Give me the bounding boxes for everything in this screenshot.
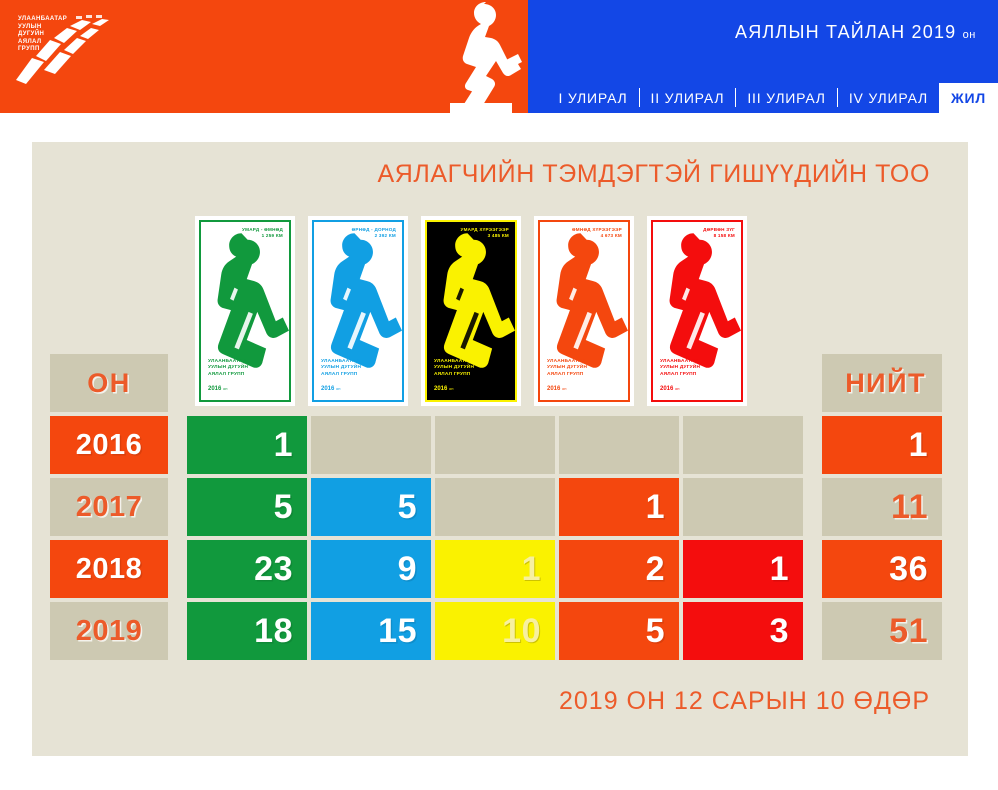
members-table: ОН НИЙТ 2016 1 — [50, 354, 942, 664]
table-gap — [807, 478, 818, 536]
report-date: 2019 ОН 12 САРЫН 10 ӨДӨР — [559, 687, 930, 716]
cell-omnod-hureegeer: 5 — [559, 602, 679, 660]
badge-year-suffix: он — [449, 386, 453, 391]
badge-head-label: УМАРД ХҮРЭЭГЭЭР 3 485 КМ — [461, 227, 510, 239]
logo-text: УЛААНБААТАР УУЛЫН ДУГУЙН АЯЛАЛ ГРУПП — [18, 16, 67, 54]
badge-org-label: УЛААНБААТАР УУЛЫН ДУГУЙН АЯЛАЛ ГРУПП — [660, 359, 700, 378]
cell-value: 5 — [274, 488, 293, 527]
cell-value: 2 — [646, 550, 665, 589]
badge-head-label: ДӨРВӨН ЗҮГ 8 158 КМ — [703, 227, 735, 239]
badge-org-label: УЛААНБААТАР УУЛЫН ДУГУЙН АЯЛАЛ ГРУПП — [547, 359, 587, 378]
app-header: УЛААНБААТАР УУЛЫН ДУГУЙН АЯЛАЛ ГРУПП АЯЛ… — [0, 0, 998, 113]
table-gap — [807, 602, 818, 660]
row-year-label: 2017 — [76, 491, 143, 524]
cell-umard-omnod: 5 — [187, 478, 307, 536]
cell-umard-hureegeer — [435, 416, 555, 474]
tab-quarter-2[interactable]: II УЛИРАЛ — [640, 83, 736, 113]
badge-card-row: УМАРД - ӨМНӨД 1 259 КМ УЛААНБААТАР УУЛЫН… — [195, 216, 747, 406]
cell-value: 1 — [274, 426, 293, 465]
cell-dorvon-zug — [683, 416, 803, 474]
cell-umard-omnod: 23 — [187, 540, 307, 598]
badge-card-omnod-hureegeer[interactable]: ӨМНӨД ХҮРЭЭГЭЭР 4 673 КМ УЛААНБААТАР УУЛ… — [534, 216, 634, 406]
cell-value: 9 — [398, 550, 417, 589]
badge-card-ornod-dornod[interactable]: ӨРНӨД - ДОРНОД 2 392 КМ УЛААНБААТАР УУЛЫ… — [308, 216, 408, 406]
report-panel: АЯЛАГЧИЙН ТЭМДЭГТЭЙ ГИШҮҮДИЙН ТОО УМАРД … — [32, 142, 968, 756]
cell-ornod-dornod: 15 — [311, 602, 431, 660]
badge-org-label: УЛААНБААТАР УУЛЫН ДУГУЙН АЯЛАЛ ГРУПП — [434, 359, 474, 378]
badge-year-value: 2016 — [434, 386, 447, 392]
table-gap — [807, 416, 818, 474]
table-gap — [172, 540, 183, 598]
cell-dorvon-zug: 3 — [683, 602, 803, 660]
cell-total: 51 — [822, 602, 942, 660]
badge-year-label: 2016 он — [208, 386, 227, 392]
cell-dorvon-zug — [683, 478, 803, 536]
report-title-suffix: он — [963, 29, 976, 41]
table-gap — [172, 354, 183, 412]
section-title: АЯЛАГЧИЙН ТЭМДЭГТЭЙ ГИШҮҮДИЙН ТОО — [377, 160, 930, 189]
row-year-cell: 2016 — [50, 416, 168, 474]
cell-value: 23 — [254, 550, 293, 589]
row-year-cell: 2018 — [50, 540, 168, 598]
table-row[interactable]: 2019 18 15 10 5 3 51 — [50, 602, 942, 660]
badge-year-suffix: он — [675, 386, 679, 391]
table-gap — [172, 478, 183, 536]
badge-year-value: 2016 — [321, 386, 334, 392]
cell-ornod-dornod — [311, 416, 431, 474]
table-gap — [172, 602, 183, 660]
tab-quarter-4[interactable]: IV УЛИРАЛ — [838, 83, 939, 113]
badge-head-label: УМАРД - ӨМНӨД 1 259 КМ — [242, 227, 283, 239]
badge-card-umard-hureegeer[interactable]: УМАРД ХҮРЭЭГЭЭР 3 485 КМ УЛААНБААТАР УУЛ… — [421, 216, 521, 406]
cell-ornod-dornod: 5 — [311, 478, 431, 536]
row-year-label: 2016 — [76, 429, 143, 462]
badge-card-umard-omnod[interactable]: УМАРД - ӨМНӨД 1 259 КМ УЛААНБААТАР УУЛЫН… — [195, 216, 295, 406]
cell-total: 11 — [822, 478, 942, 536]
row-year-cell: 2019 — [50, 602, 168, 660]
badge-head-label: ӨРНӨД - ДОРНОД 2 392 КМ — [352, 227, 396, 239]
table-header-total: НИЙТ — [822, 354, 942, 412]
badge-head-label: ӨМНӨД ХҮРЭЭГЭЭР 4 673 КМ — [572, 227, 622, 239]
row-year-label: 2018 — [76, 553, 143, 586]
badge-year-suffix: он — [562, 386, 566, 391]
badge-year-value: 2016 — [547, 386, 560, 392]
report-title-text: АЯЛЛЫН ТАЙЛАН 2019 — [735, 22, 956, 42]
table-gap — [172, 416, 183, 474]
cell-value: 51 — [889, 612, 928, 651]
table-gap — [807, 354, 818, 412]
table-row[interactable]: 2016 1 1 — [50, 416, 942, 474]
cell-umard-omnod: 18 — [187, 602, 307, 660]
tab-quarter-1[interactable]: I УЛИРАЛ — [547, 83, 638, 113]
cell-value: 1 — [646, 488, 665, 527]
cell-value: 5 — [646, 612, 665, 651]
table-header-year-label: ОН — [87, 368, 131, 399]
cell-value: 3 — [770, 612, 789, 651]
table-header-year: ОН — [50, 354, 168, 412]
badge-org-label: УЛААНБААТАР УУЛЫН ДУГУЙН АЯЛАЛ ГРУПП — [321, 359, 361, 378]
table-header-total-label: НИЙТ — [845, 368, 928, 399]
cell-value: 15 — [378, 612, 417, 651]
cell-total: 36 — [822, 540, 942, 598]
row-year-cell: 2017 — [50, 478, 168, 536]
badge-year-suffix: он — [336, 386, 340, 391]
cell-value: 11 — [891, 488, 928, 527]
page-title: АЯЛЛЫН ТАЙЛАН 2019 он — [735, 22, 976, 43]
table-gap — [807, 540, 818, 598]
cell-umard-hureegeer: 10 — [435, 602, 555, 660]
cell-omnod-hureegeer: 2 — [559, 540, 679, 598]
badge-year-label: 2016 он — [660, 386, 679, 392]
cell-value: 10 — [502, 612, 541, 651]
cell-total: 1 — [822, 416, 942, 474]
table-row[interactable]: 2017 5 5 1 11 — [50, 478, 942, 536]
badge-card-dorvon-zug[interactable]: ДӨРВӨН ЗҮГ 8 158 КМ УЛААНБААТАР УУЛЫН ДУ… — [647, 216, 747, 406]
cell-umard-omnod: 1 — [187, 416, 307, 474]
badge-year-value: 2016 — [208, 386, 221, 392]
badge-year-value: 2016 — [660, 386, 673, 392]
badge-year-label: 2016 он — [547, 386, 566, 392]
cell-value: 18 — [254, 612, 293, 651]
badge-year-label: 2016 он — [434, 386, 453, 392]
tab-year[interactable]: ЖИЛ — [939, 83, 998, 113]
period-tabs[interactable]: I УЛИРАЛ II УЛИРАЛ III УЛИРАЛ IV УЛИРАЛ … — [547, 83, 998, 113]
badge-org-label: УЛААНБААТАР УУЛЫН ДУГУЙН АЯЛАЛ ГРУПП — [208, 359, 248, 378]
cell-dorvon-zug: 1 — [683, 540, 803, 598]
cell-value: 1 — [909, 426, 928, 465]
cell-omnod-hureegeer — [559, 416, 679, 474]
table-row[interactable]: 2018 23 9 1 2 1 36 — [50, 540, 942, 598]
cell-omnod-hureegeer: 1 — [559, 478, 679, 536]
row-year-label: 2019 — [76, 615, 143, 648]
cell-value: 36 — [889, 550, 928, 589]
badge-year-label: 2016 он — [321, 386, 340, 392]
cyclist-silhouette-icon — [420, 0, 540, 113]
cell-value: 1 — [522, 550, 541, 589]
cell-umard-hureegeer — [435, 478, 555, 536]
cell-value: 5 — [398, 488, 417, 527]
cell-ornod-dornod: 9 — [311, 540, 431, 598]
cell-value: 1 — [770, 550, 789, 589]
badge-year-suffix: он — [223, 386, 227, 391]
cell-umard-hureegeer: 1 — [435, 540, 555, 598]
tab-quarter-3[interactable]: III УЛИРАЛ — [736, 83, 836, 113]
